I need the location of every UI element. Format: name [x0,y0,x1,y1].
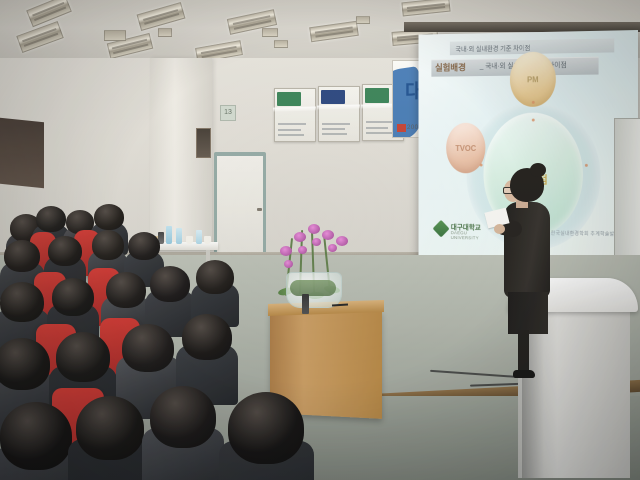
attendee-head [122,324,174,372]
poster-header [277,92,300,106]
diagram-node-dot [532,101,535,104]
ceiling-air-vent [104,30,126,41]
room-number-sign: 13 [220,105,236,121]
presenter-hair-bun [530,163,546,177]
banner-red-mark [397,124,406,132]
logo-subtext: DAEGU UNIVERSITY [451,230,497,240]
attendee-head [128,232,160,260]
diagram-node-dot [480,164,483,167]
ceiling-light-fixture [401,0,450,16]
glass-glare [317,105,360,110]
presenter [496,168,560,380]
attendee-head [36,206,66,232]
presenter-hand [494,224,505,234]
lecture-hall-photo: 13 대구 대 2009. 11. 국내·외 실내환경 기준 차이점 실험배경 [0,0,640,480]
attendee-head [0,282,44,322]
attendee-head [0,338,50,390]
attendee-head [0,402,72,470]
ceiling-air-vent [274,40,288,48]
wall-speaker-icon [196,128,211,158]
notice-poster [318,86,360,142]
diagram-node-dot [585,164,588,167]
glass-glare [273,106,316,111]
attendee-head [196,260,234,294]
poster-text-line [366,132,392,134]
slide-title: 실험배경 [435,61,466,74]
slide-top-strip-text: 국내·외 실내환경 기준 차이점 [455,42,530,53]
ceiling-air-vent [158,28,172,37]
poster-text-line [278,129,301,131]
attendee-head [94,204,124,230]
attendee-head [48,236,82,266]
presenter-shoe [513,370,535,378]
bubble-label-pm: PM [510,75,556,84]
audience [0,196,420,480]
ceiling-air-vent [356,16,370,24]
poster-text-line [366,121,395,123]
bubble-label-tvoc: TVOC [446,144,485,153]
attendee-head [106,272,146,308]
ceiling-light-fixture [309,21,359,43]
attendee-head [228,392,304,464]
poster-text-line [366,127,388,129]
attendee-head [182,314,232,360]
diagram-bubble-pm: PM [510,51,556,107]
poster-text-line [278,134,304,136]
notice-poster [274,88,316,142]
attendee-head [150,266,190,302]
attendee-head [76,396,144,460]
poster-header [365,88,388,102]
presenter-leg [518,330,529,374]
poster-header [321,90,344,104]
poster-text-line [278,123,306,125]
ceiling-light-fixture [137,2,186,31]
attendee-head [52,278,94,316]
diamond-logo-icon [433,220,450,238]
ceiling-air-vent [262,28,278,37]
diagram-node-dot [532,119,535,122]
whiteboard [614,118,640,260]
attendee-head [150,386,216,448]
ceiling-light-fixture [16,21,64,53]
attendee-head [4,240,40,272]
poster-text-line [322,133,347,135]
presenter-jacket [504,202,550,298]
attendee-head [92,230,124,260]
wall-dark-panel [0,118,44,189]
attendee-head [56,332,110,382]
poster-text-line [322,128,344,130]
presenter-skirt [508,292,548,334]
poster-text-line [322,123,350,125]
